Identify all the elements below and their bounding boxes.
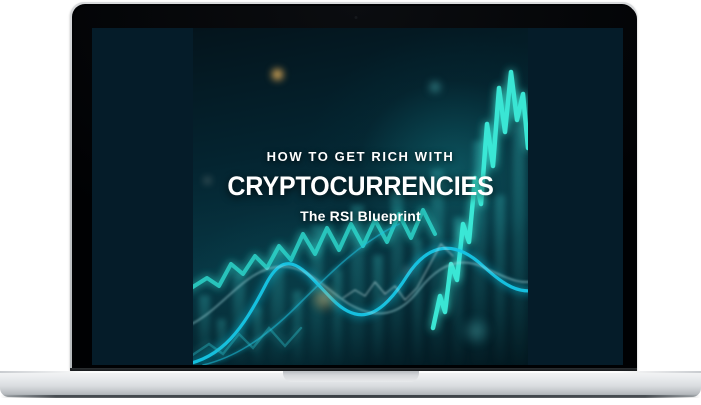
cover-headline: CRYPTOCURRENCIES (205, 173, 517, 200)
webcam-icon (354, 16, 357, 19)
screenshot-stage: HOW TO GET RICH WITH CRYPTOCURRENCIES Th… (0, 0, 701, 405)
cover-title-block: HOW TO GET RICH WITH CRYPTOCURRENCIES Th… (193, 150, 528, 223)
bokeh-dot-pink-2 (383, 296, 387, 300)
bokeh-amber-large (311, 286, 337, 312)
course-cover-image[interactable]: HOW TO GET RICH WITH CRYPTOCURRENCIES Th… (193, 28, 528, 365)
base-bottom-shadow (0, 395, 701, 398)
bokeh-teal-large (461, 316, 491, 346)
laptop-screen[interactable]: HOW TO GET RICH WITH CRYPTOCURRENCIES Th… (92, 28, 623, 365)
screen-bezel: HOW TO GET RICH WITH CRYPTOCURRENCIES Th… (74, 6, 637, 372)
laptop-lid: HOW TO GET RICH WITH CRYPTOCURRENCIES Th… (70, 2, 637, 372)
cover-subline: The RSI Blueprint (193, 209, 528, 223)
cover-kicker: HOW TO GET RICH WITH (193, 150, 528, 163)
bokeh-dot-pink (405, 268, 410, 273)
laptop-base (0, 371, 701, 397)
laptop-lid-inner: HOW TO GET RICH WITH CRYPTOCURRENCIES Th… (72, 4, 635, 370)
bokeh-gold (272, 69, 283, 80)
base-front-notch (283, 371, 419, 382)
bokeh-teal (428, 80, 442, 94)
